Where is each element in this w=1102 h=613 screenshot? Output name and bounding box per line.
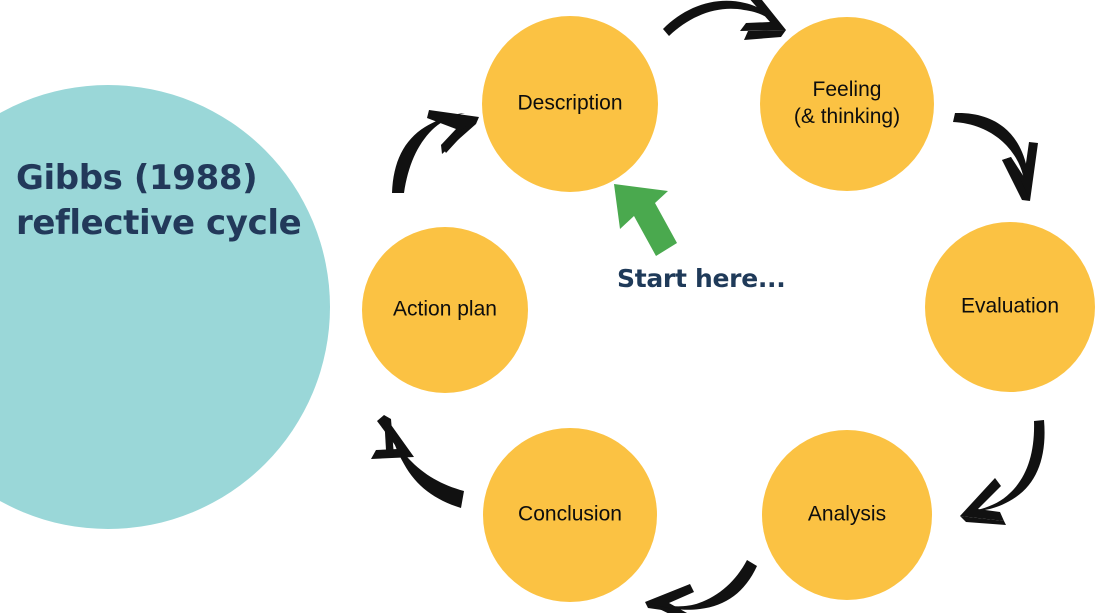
start-here-label: Start here...: [617, 264, 785, 293]
start-here-arrow-layer: [0, 0, 1102, 613]
gibbs-reflective-cycle-diagram: Gibbs (1988) reflective cycle: [0, 0, 1102, 613]
start-here-green-arrow-icon: [614, 184, 677, 256]
